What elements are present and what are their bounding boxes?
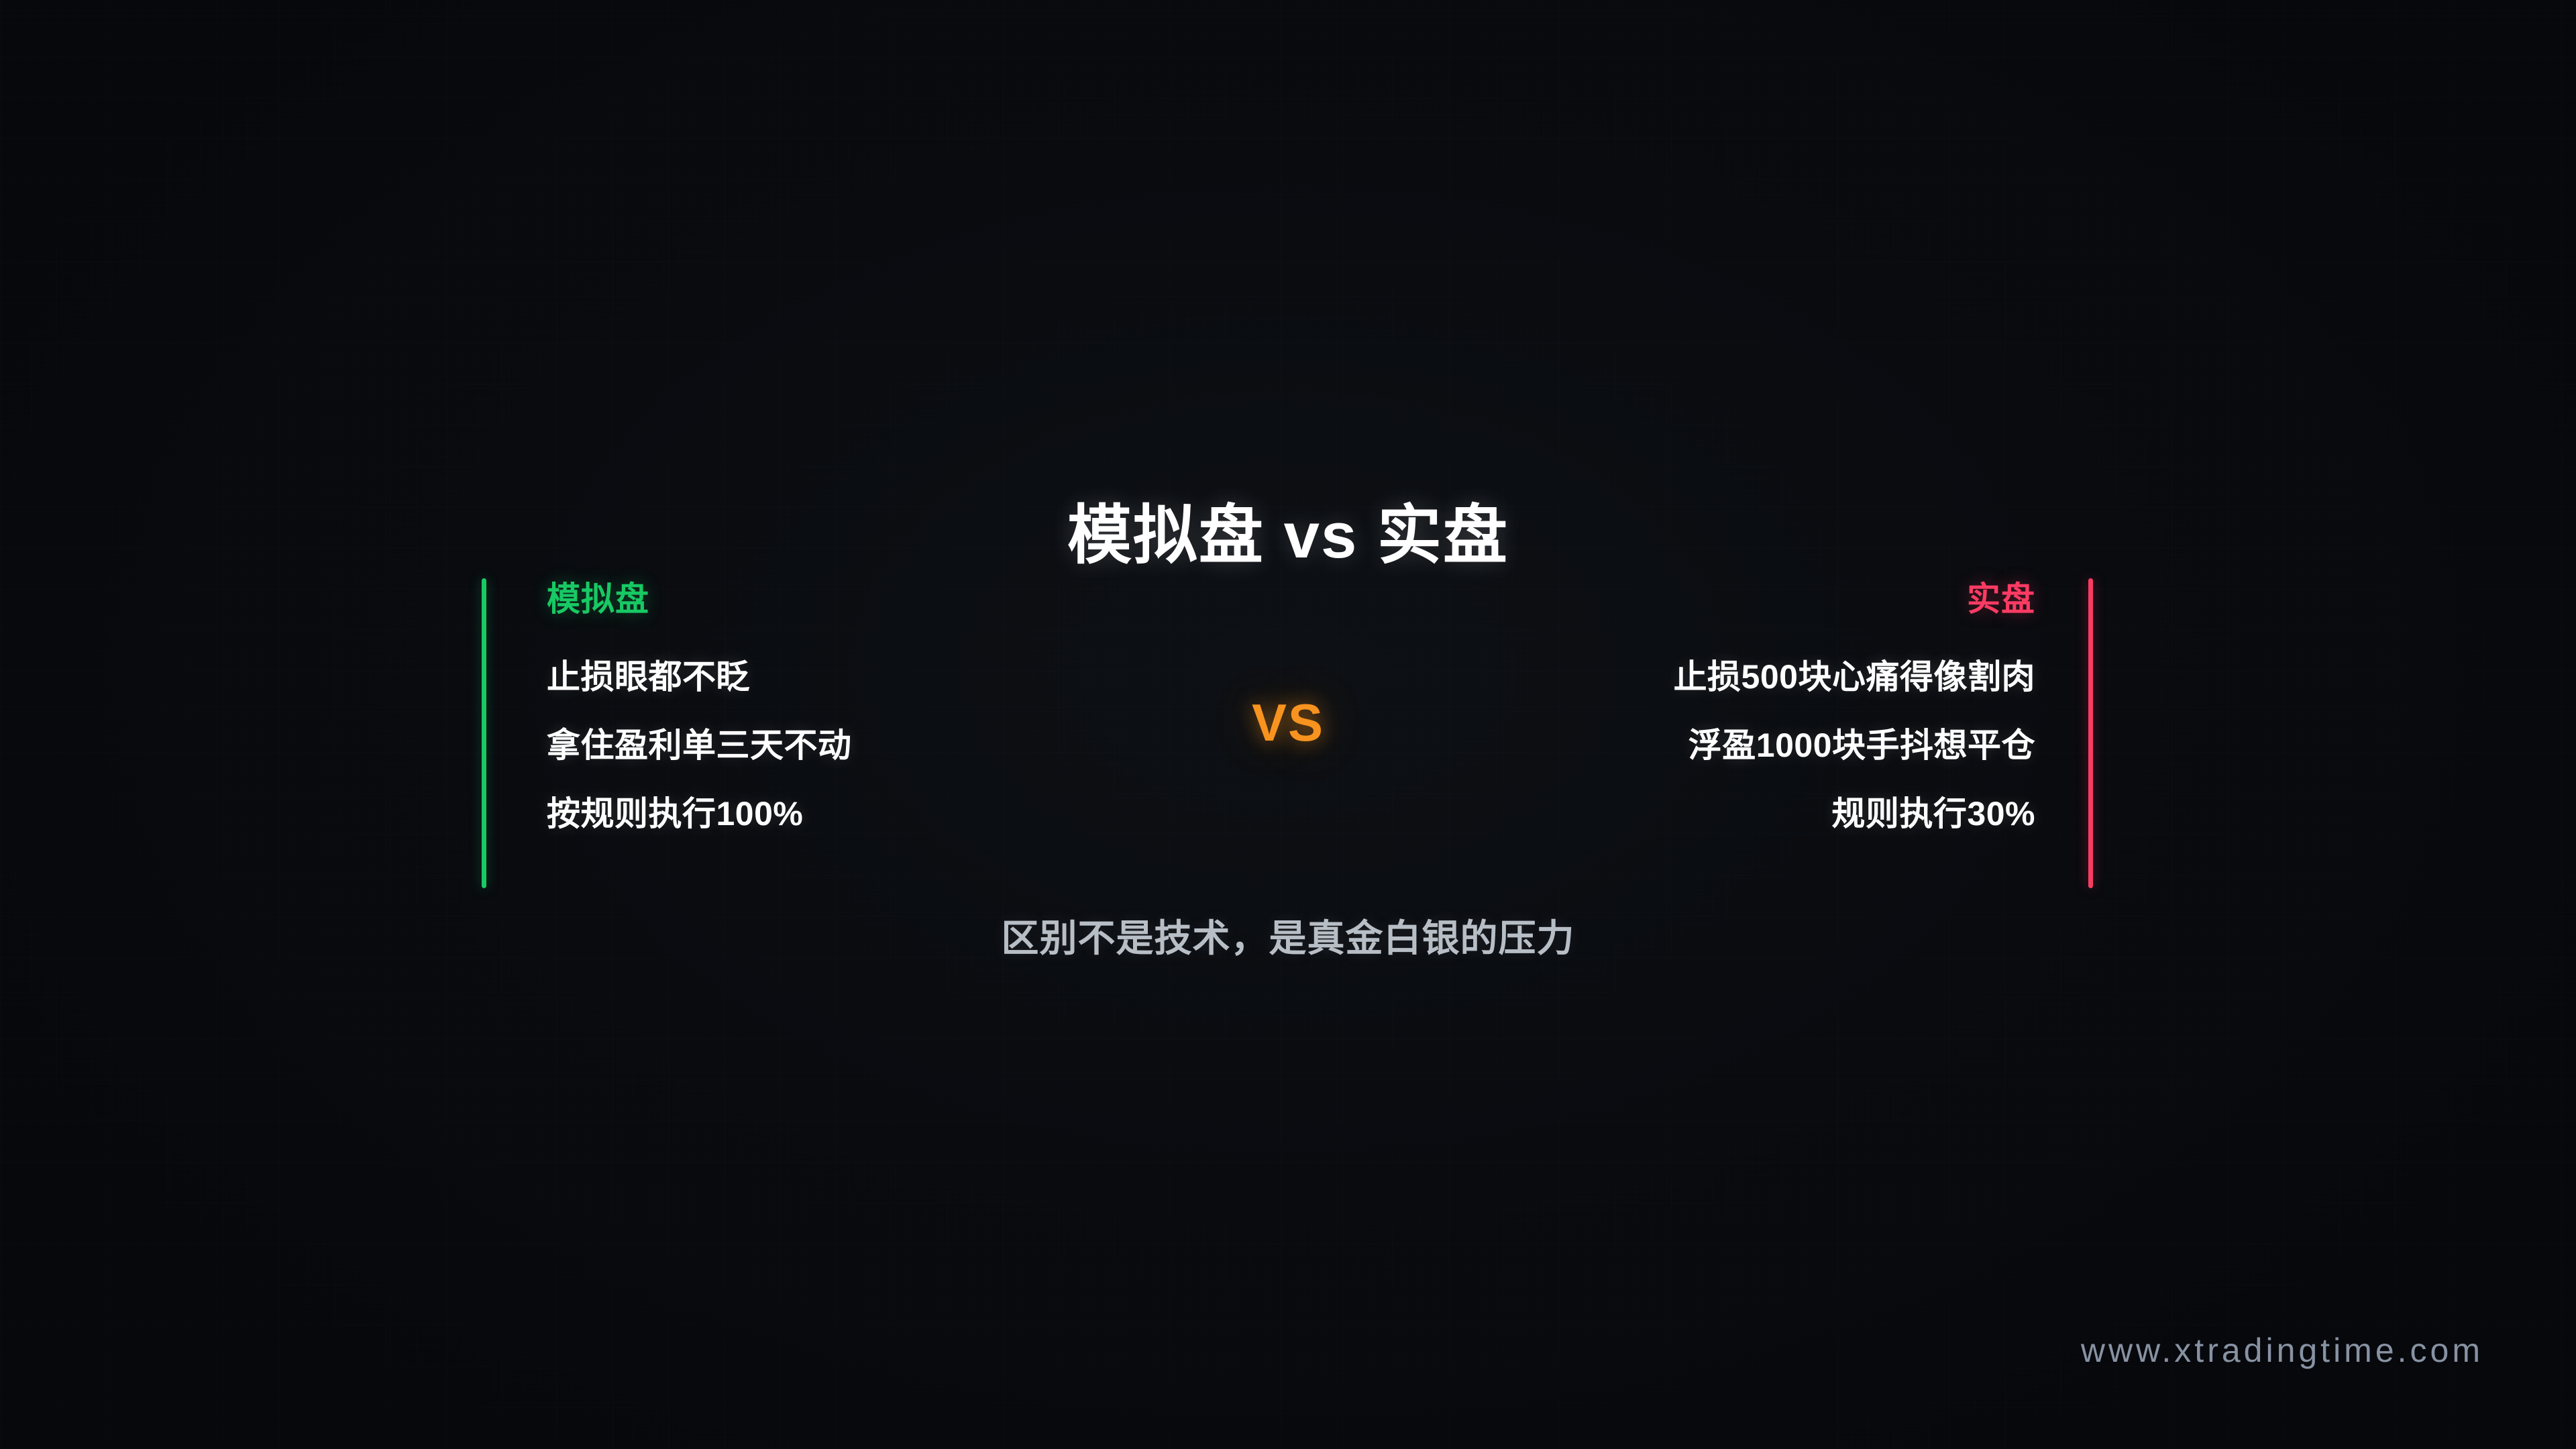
site-watermark: www.xtradingtime.com <box>2081 1334 2483 1367</box>
vs-badge: VS <box>0 696 2576 749</box>
page-title: 模拟盘 vs 实盘 <box>0 500 2576 572</box>
slide-canvas: 模拟盘 vs 实盘 模拟盘 止损眼都不眨 拿住盈利单三天不动 按规则执行100%… <box>0 0 2576 1449</box>
list-item: 按规则执行100% <box>547 797 1124 830</box>
list-item: 止损500块心痛得像割肉 <box>1458 660 2035 694</box>
list-item: 止损眼都不眨 <box>547 660 1124 694</box>
live-column-heading: 实盘 <box>1458 578 2035 616</box>
demo-column-heading: 模拟盘 <box>547 578 1124 616</box>
caption-text: 区别不是技术，是真金白银的压力 <box>0 918 2576 959</box>
list-item: 规则执行30% <box>1458 797 2035 830</box>
